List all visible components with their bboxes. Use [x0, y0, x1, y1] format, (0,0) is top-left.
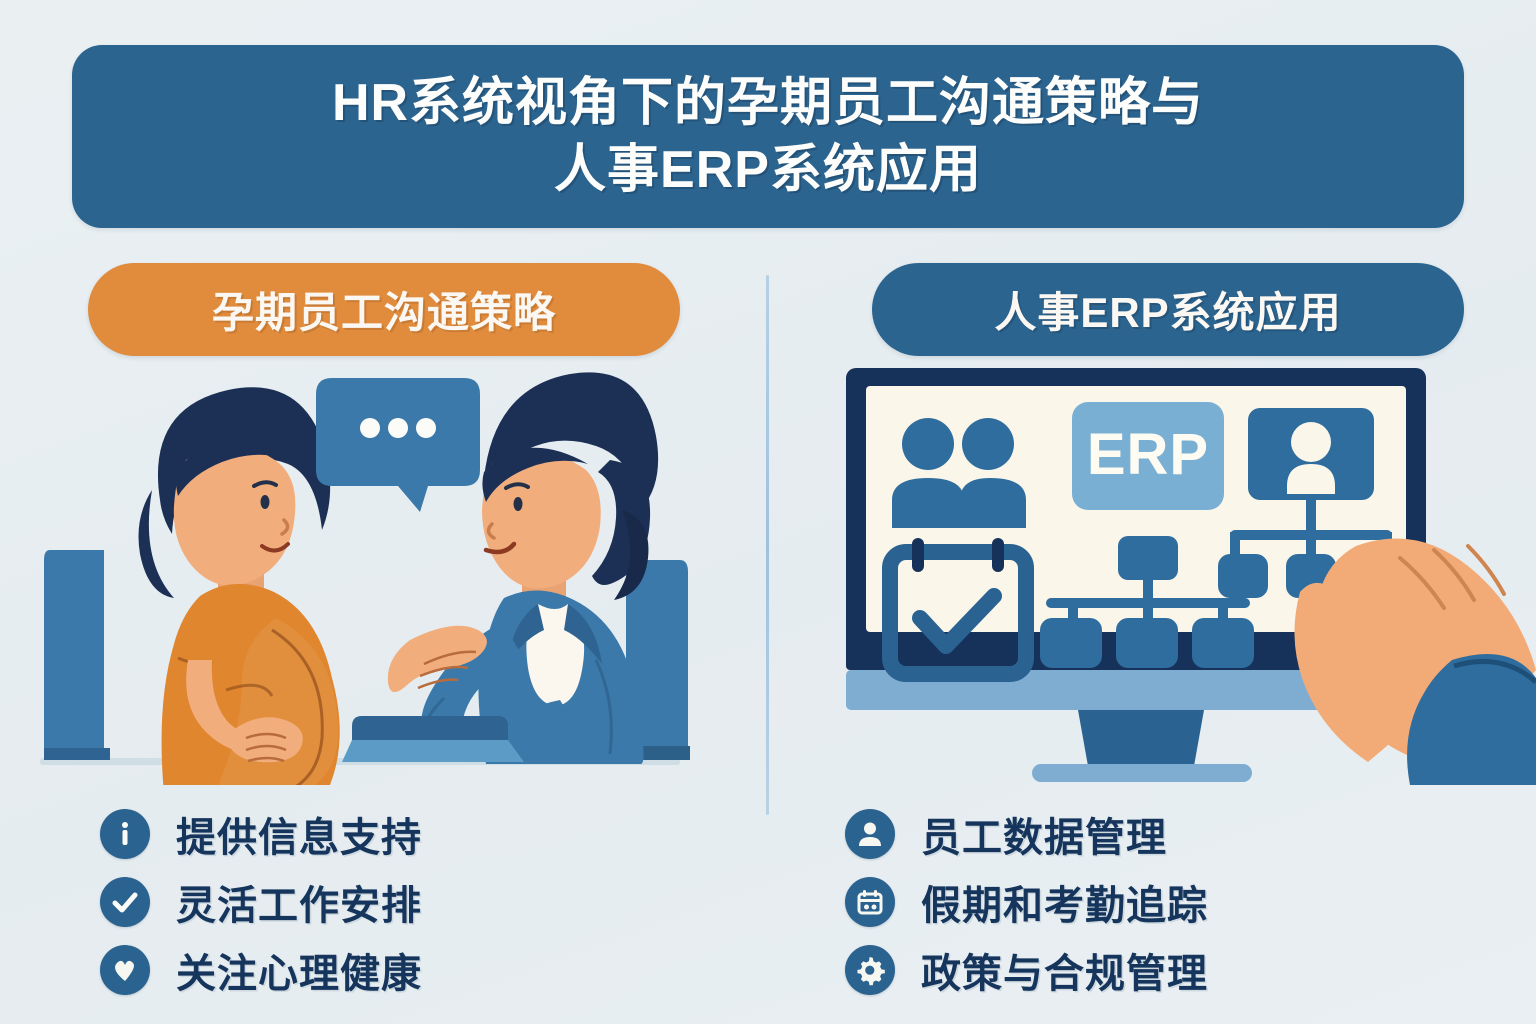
bullet-item-leave-attendance[interactable]: 假期和考勤追踪	[845, 868, 1208, 936]
chair-left-base	[44, 748, 110, 760]
title-banner: HR系统视角下的孕期员工沟通策略与 人事ERP系统应用	[72, 45, 1464, 228]
bubble-dot-1	[360, 418, 380, 438]
title-line-2: 人事ERP系统应用	[554, 137, 982, 204]
chair-left-back	[44, 550, 104, 758]
person-icon	[845, 809, 895, 859]
bullet-item-label: 政策与合规管理	[921, 941, 1208, 999]
bullet-item-label: 员工数据管理	[921, 805, 1167, 863]
pointing-hand	[1294, 538, 1536, 785]
title-line-1: HR系统视角下的孕期员工沟通策略与	[332, 70, 1204, 137]
bullet-item-mental-health[interactable]: 关注心理健康	[100, 936, 422, 1004]
section-header-right: 人事ERP系统应用	[872, 263, 1464, 356]
heart-icon	[100, 945, 150, 995]
bullet-item-info-support[interactable]: 提供信息支持	[100, 800, 422, 868]
infographic-canvas: HR系统视角下的孕期员工沟通策略与 人事ERP系统应用 孕期员工沟通策略 人事E…	[0, 0, 1536, 1024]
eye	[261, 495, 270, 509]
section-header-left: 孕期员工沟通策略	[88, 263, 680, 356]
bullet-item-flexible-work[interactable]: 灵活工作安排	[100, 868, 422, 936]
check-circle-icon	[100, 877, 150, 927]
bullet-item-label: 关注心理健康	[176, 941, 422, 999]
monitor-base	[1032, 764, 1252, 782]
illustration-pregnant-employee-hr-conversation	[40, 360, 750, 785]
speech-bubble	[316, 378, 480, 512]
section-header-right-label: 人事ERP系统应用	[994, 279, 1341, 340]
erp-badge: ERP	[1072, 402, 1224, 510]
bullet-item-employee-data[interactable]: 员工数据管理	[845, 800, 1208, 868]
bullet-item-policy-compliance[interactable]: 政策与合规管理	[845, 936, 1208, 1004]
bullet-item-label: 假期和考勤追踪	[921, 873, 1208, 931]
bubble-dot-2	[388, 418, 408, 438]
section-divider	[766, 275, 769, 815]
monitor-stand	[1078, 710, 1204, 766]
eye	[514, 497, 523, 511]
bubble-dot-3	[416, 418, 436, 438]
erp-badge-label: ERP	[1087, 422, 1209, 487]
bullet-list-left: 提供信息支持 灵活工作安排 关注心理健康	[100, 800, 422, 1004]
bullet-item-label: 灵活工作安排	[176, 873, 422, 931]
gear-icon	[845, 945, 895, 995]
info-circle-icon	[100, 809, 150, 859]
bullet-list-right: 员工数据管理 假期和考勤追踪	[845, 800, 1208, 1004]
section-header-left-label: 孕期员工沟通策略	[212, 279, 556, 340]
bullet-item-label: 提供信息支持	[176, 805, 422, 863]
illustration-erp-monitor-with-pointing-hand: ERP	[800, 360, 1536, 785]
desk	[342, 716, 524, 762]
pregnant-employee-figure	[139, 387, 340, 785]
calendar-icon	[845, 877, 895, 927]
